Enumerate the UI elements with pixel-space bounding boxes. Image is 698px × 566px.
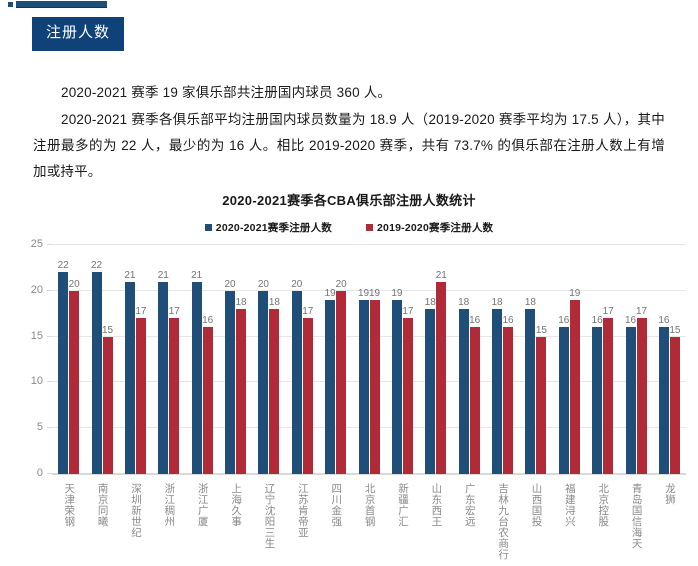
article-body: 2020-2021 赛季 19 家俱乐部共注册国内球员 360 人。 2020-… xyxy=(33,80,665,186)
chart-legend: 2020-2021赛季注册人数 2019-2020赛季注册人数 xyxy=(0,220,698,235)
bar[interactable]: 18 xyxy=(492,309,502,474)
bar-group[interactable]: 2117 xyxy=(152,245,185,474)
bar-value-label: 21 xyxy=(158,271,169,281)
bar[interactable]: 22 xyxy=(58,272,68,474)
legend-swatch-icon xyxy=(205,224,212,231)
bar[interactable]: 21 xyxy=(436,282,446,474)
bar-group[interactable]: 1617 xyxy=(586,245,619,474)
bar-value-label: 18 xyxy=(425,298,436,308)
x-axis-label: 广东宏远 xyxy=(464,483,475,560)
x-axis-label-cell: 吉林九台农商行 xyxy=(486,483,519,560)
x-axis-label-cell: 四川金强 xyxy=(319,483,352,560)
bar-value-label: 15 xyxy=(669,326,680,336)
section-badge: 注册人数 xyxy=(32,17,124,51)
x-axis-label-cell: 龙狮 xyxy=(653,483,686,560)
bar[interactable]: 17 xyxy=(136,318,146,474)
x-axis-label: 福建浔兴 xyxy=(564,483,575,560)
bar-value-label: 21 xyxy=(124,271,135,281)
legend-item: 2019-2020赛季注册人数 xyxy=(366,220,493,235)
bar-value-label: 15 xyxy=(536,326,547,336)
bar[interactable]: 16 xyxy=(659,327,669,474)
bar-value-label: 19 xyxy=(391,289,402,299)
bar[interactable]: 15 xyxy=(103,337,113,474)
paragraph: 2020-2021 赛季各俱乐部平均注册国内球员数量为 18.9 人（2019-… xyxy=(33,107,665,185)
x-axis-label: 上海久事 xyxy=(230,483,241,560)
x-axis-label: 新疆广汇 xyxy=(397,483,408,560)
bar-value-label: 17 xyxy=(135,307,146,317)
bar-value-label: 21 xyxy=(191,271,202,281)
bar[interactable]: 20 xyxy=(336,291,346,474)
bar-value-label: 18 xyxy=(458,298,469,308)
bar[interactable]: 18 xyxy=(236,309,246,474)
bar[interactable]: 15 xyxy=(536,337,546,474)
bar-group[interactable]: 1821 xyxy=(419,245,452,474)
x-axis-label: 深圳新世纪 xyxy=(130,483,141,560)
bar-value-label: 17 xyxy=(636,307,647,317)
top-decorative-rule xyxy=(0,0,698,10)
bar-group[interactable]: 1920 xyxy=(319,245,352,474)
registered-players-bar-chart: 2020-2021赛季各CBA俱乐部注册人数统计 2020-2021赛季注册人数… xyxy=(0,186,698,566)
x-axis-label-cell: 辽宁沈阳三生 xyxy=(252,483,285,560)
bar-group[interactable]: 2117 xyxy=(119,245,152,474)
y-axis-tick-label: 25 xyxy=(31,238,43,250)
x-axis-label: 吉林九台农商行 xyxy=(497,483,508,560)
chart-title: 2020-2021赛季各CBA俱乐部注册人数统计 xyxy=(0,190,698,209)
y-axis-tick-label: 5 xyxy=(37,421,43,433)
bar[interactable]: 16 xyxy=(559,327,569,474)
bar-value-label: 16 xyxy=(658,316,669,326)
bar-value-label: 16 xyxy=(558,316,569,326)
bar-value-label: 18 xyxy=(492,298,503,308)
paragraph: 2020-2021 赛季 19 家俱乐部共注册国内球员 360 人。 xyxy=(33,80,665,106)
bar-value-label: 19 xyxy=(358,289,369,299)
bar[interactable]: 18 xyxy=(525,309,535,474)
bar-group[interactable]: 1816 xyxy=(486,245,519,474)
x-axis-label-cell: 广东宏远 xyxy=(453,483,486,560)
bar-group[interactable]: 1815 xyxy=(519,245,552,474)
x-axis-label: 辽宁沈阳三生 xyxy=(263,483,274,560)
bar[interactable]: 20 xyxy=(258,291,268,474)
bar[interactable]: 21 xyxy=(158,282,168,474)
legend-label: 2020-2021赛季注册人数 xyxy=(216,220,332,235)
bar[interactable]: 18 xyxy=(459,309,469,474)
x-axis-label: 江苏肯帝亚 xyxy=(297,483,308,560)
x-axis-label-cell: 新疆广汇 xyxy=(386,483,419,560)
y-axis-tick-label: 0 xyxy=(37,467,43,479)
x-axis-label-cell: 北京控股 xyxy=(586,483,619,560)
x-axis-label: 四川金强 xyxy=(330,483,341,560)
bar-group[interactable]: 2017 xyxy=(286,245,319,474)
x-axis-label: 山东西王 xyxy=(430,483,441,560)
bar-value-label: 21 xyxy=(436,271,447,281)
x-axis-label: 浙江广厦 xyxy=(197,483,208,560)
bar[interactable]: 19 xyxy=(392,300,402,474)
x-axis-label: 北京首钢 xyxy=(364,483,375,560)
bar-group[interactable]: 1619 xyxy=(553,245,586,474)
x-axis-label-cell: 江苏肯帝亚 xyxy=(286,483,319,560)
bar-group[interactable]: 2018 xyxy=(252,245,285,474)
bar-value-label: 16 xyxy=(202,316,213,326)
bar-value-label: 16 xyxy=(625,316,636,326)
bar-value-label: 22 xyxy=(58,261,69,271)
plot-area-wrapper: 0510152025 22202215211721172116201820182… xyxy=(0,245,698,480)
bar[interactable]: 21 xyxy=(192,282,202,474)
bar-value-label: 15 xyxy=(102,326,113,336)
bar[interactable]: 16 xyxy=(592,327,602,474)
x-axis-label-cell: 南京同曦 xyxy=(85,483,118,560)
legend-item: 2020-2021赛季注册人数 xyxy=(205,220,332,235)
bar[interactable]: 17 xyxy=(403,318,413,474)
x-axis-label-cell: 福建浔兴 xyxy=(553,483,586,560)
bar-value-label: 17 xyxy=(603,307,614,317)
y-axis-tick-label: 20 xyxy=(31,284,43,296)
bar-group[interactable]: 2215 xyxy=(85,245,118,474)
bar[interactable]: 16 xyxy=(470,327,480,474)
bar-value-label: 18 xyxy=(236,298,247,308)
x-axis-label-cell: 天津荣钢 xyxy=(52,483,85,560)
bar-group[interactable]: 2018 xyxy=(219,245,252,474)
bar[interactable]: 19 xyxy=(325,300,335,474)
x-axis-label: 山西国投 xyxy=(530,483,541,560)
bar-value-label: 19 xyxy=(369,289,380,299)
bar-value-label: 20 xyxy=(291,280,302,290)
bar[interactable]: 21 xyxy=(125,282,135,474)
bar[interactable]: 16 xyxy=(503,327,513,474)
y-axis-tick-label: 15 xyxy=(31,330,43,342)
bar[interactable]: 15 xyxy=(670,337,680,474)
bar[interactable]: 17 xyxy=(603,318,613,474)
bar[interactable]: 20 xyxy=(292,291,302,474)
bar-value-label: 17 xyxy=(402,307,413,317)
bar[interactable]: 20 xyxy=(69,291,79,474)
bar[interactable]: 16 xyxy=(203,327,213,474)
bar-value-label: 16 xyxy=(469,316,480,326)
x-axis-label: 天津荣钢 xyxy=(63,483,74,560)
bar[interactable]: 18 xyxy=(269,309,279,474)
bar[interactable]: 16 xyxy=(626,327,636,474)
x-axis-label: 浙江稠州 xyxy=(163,483,174,560)
top-rule-dot xyxy=(8,2,13,7)
x-axis-label-cell: 深圳新世纪 xyxy=(119,483,152,560)
x-axis-label-cell: 北京首钢 xyxy=(352,483,385,560)
top-rule-line xyxy=(16,1,107,8)
bar-group[interactable]: 2116 xyxy=(186,245,219,474)
bar[interactable]: 17 xyxy=(169,318,179,474)
x-axis-label: 北京控股 xyxy=(597,483,608,560)
x-axis-label-cell: 浙江稠州 xyxy=(152,483,185,560)
bar[interactable]: 19 xyxy=(570,300,580,474)
bar[interactable]: 18 xyxy=(425,309,435,474)
bar-value-label: 16 xyxy=(592,316,603,326)
bar-value-label: 22 xyxy=(91,261,102,271)
bar[interactable]: 22 xyxy=(92,272,102,474)
x-axis-label: 龙狮 xyxy=(664,483,675,560)
bar-value-label: 18 xyxy=(525,298,536,308)
bar-group[interactable]: 1617 xyxy=(619,245,652,474)
x-axis-label-cell: 山西国投 xyxy=(519,483,552,560)
bar-group[interactable]: 1816 xyxy=(453,245,486,474)
bar-value-label: 17 xyxy=(169,307,180,317)
y-axis-tick-label: 10 xyxy=(31,375,43,387)
bar-value-label: 16 xyxy=(503,316,514,326)
bar-value-label: 19 xyxy=(325,289,336,299)
x-axis-label-cell: 上海久事 xyxy=(219,483,252,560)
bar-value-label: 20 xyxy=(336,280,347,290)
bar[interactable]: 19 xyxy=(359,300,369,474)
x-axis-label-cell: 山东西王 xyxy=(419,483,452,560)
bar-group[interactable]: 2220 xyxy=(52,245,85,474)
x-axis-label: 青岛国信海天 xyxy=(631,483,642,560)
plot-area: 0510152025 22202215211721172116201820182… xyxy=(52,245,686,475)
bar-group[interactable]: 1917 xyxy=(386,245,419,474)
x-axis-labels: 天津荣钢南京同曦深圳新世纪浙江稠州浙江广厦上海久事辽宁沈阳三生江苏肯帝亚四川金强… xyxy=(0,483,698,560)
bar-value-label: 18 xyxy=(269,298,280,308)
bar-group[interactable]: 1615 xyxy=(653,245,686,474)
bar-value-label: 19 xyxy=(569,289,580,299)
bar[interactable]: 20 xyxy=(225,291,235,474)
x-axis-label-cell: 浙江广厦 xyxy=(186,483,219,560)
bar-groups: 2220221521172117211620182018201719201919… xyxy=(52,245,686,474)
bar-value-label: 20 xyxy=(225,280,236,290)
bar[interactable]: 17 xyxy=(303,318,313,474)
x-axis-label-cell: 青岛国信海天 xyxy=(619,483,652,560)
bar-value-label: 20 xyxy=(69,280,80,290)
bar-value-label: 20 xyxy=(258,280,269,290)
bar-value-label: 17 xyxy=(302,307,313,317)
bar-group[interactable]: 1919 xyxy=(352,245,385,474)
bar[interactable]: 17 xyxy=(637,318,647,474)
bar[interactable]: 19 xyxy=(370,300,380,474)
legend-label: 2019-2020赛季注册人数 xyxy=(377,220,493,235)
x-axis-label: 南京同曦 xyxy=(97,483,108,560)
legend-swatch-icon xyxy=(366,224,373,231)
